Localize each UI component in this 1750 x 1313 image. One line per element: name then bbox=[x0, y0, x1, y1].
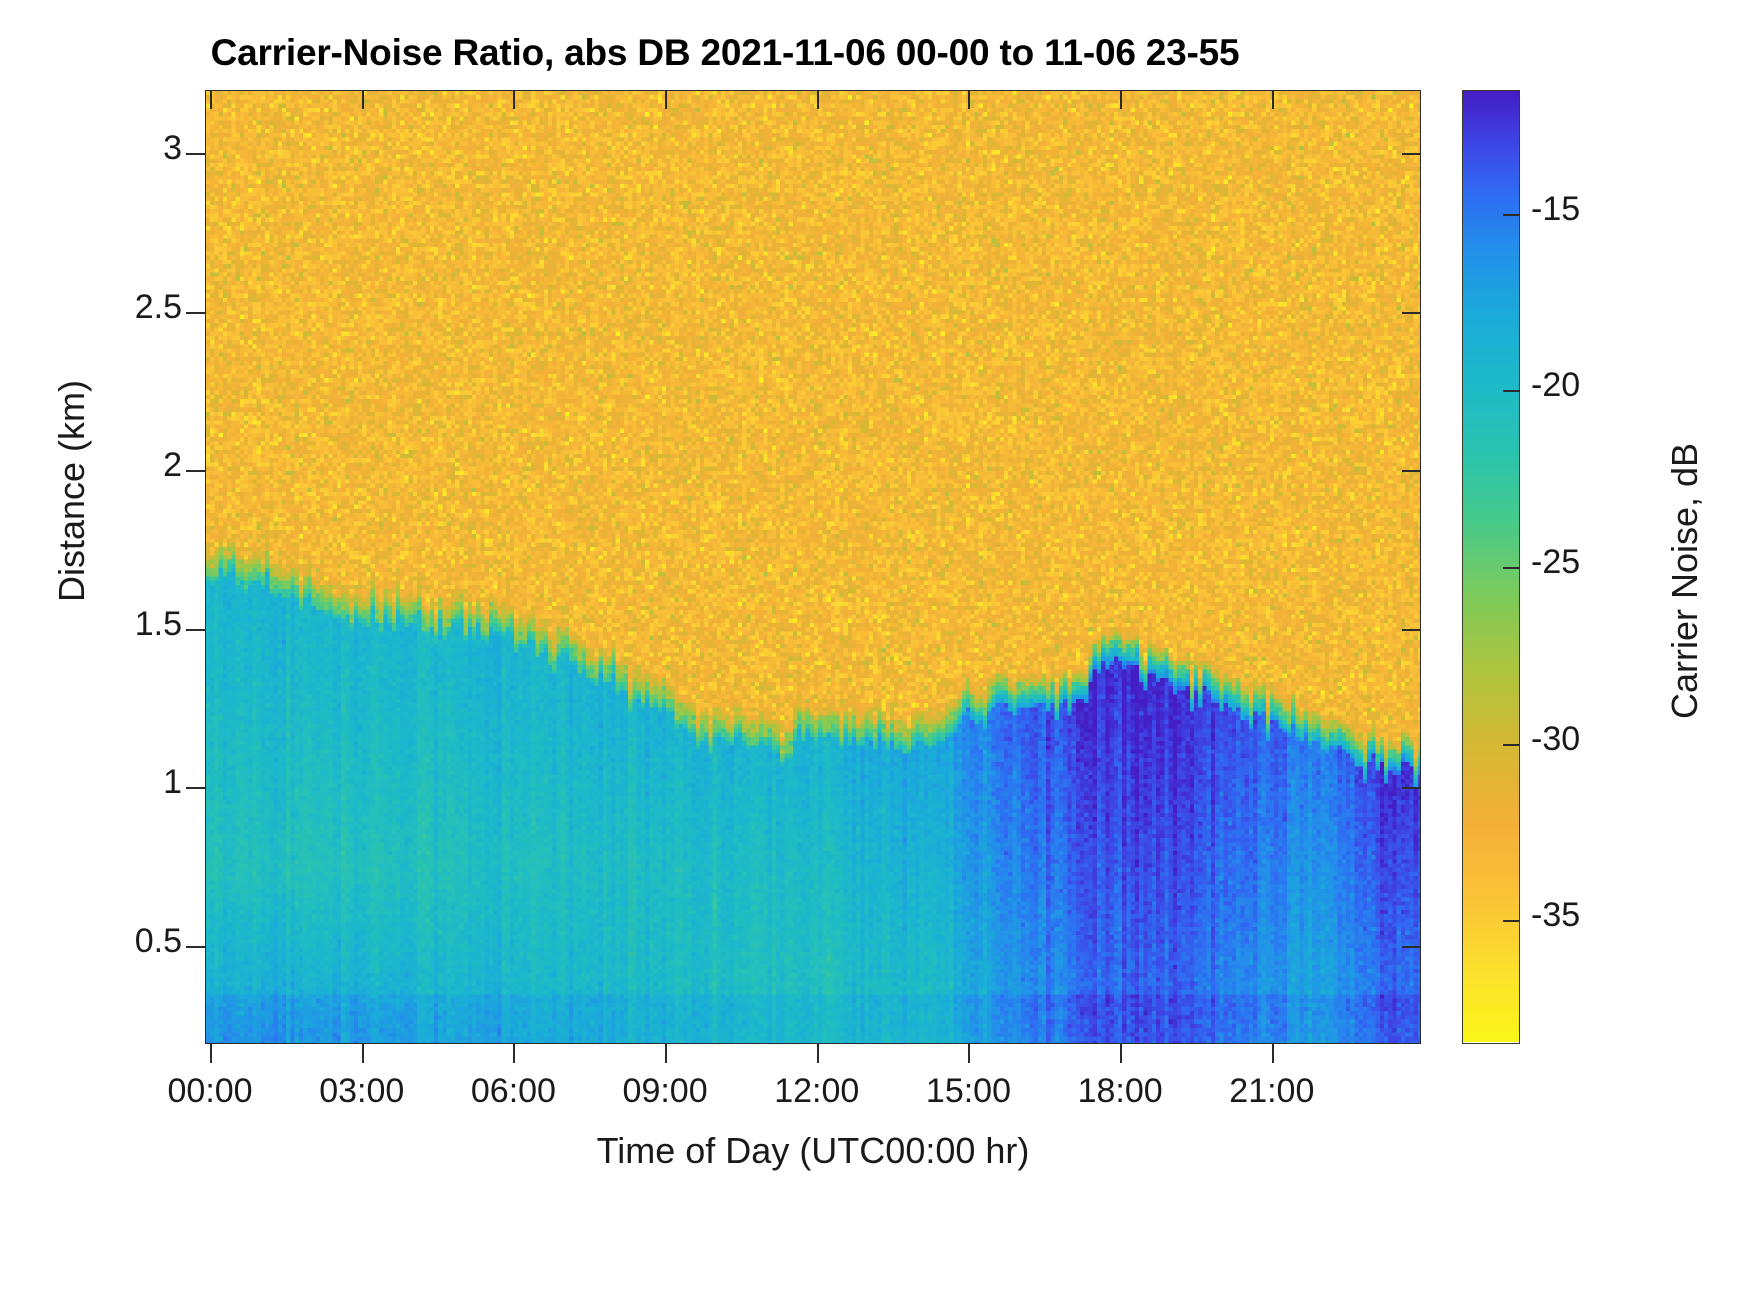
x-tick-mark-top bbox=[665, 90, 667, 109]
y-tick-mark-right bbox=[1402, 470, 1421, 472]
colorbar-tick-label: -30 bbox=[1531, 722, 1580, 756]
y-tick-mark bbox=[186, 629, 205, 631]
colorbar-tick-mark bbox=[1503, 744, 1520, 746]
x-tick-mark-top bbox=[210, 90, 212, 109]
x-tick-mark bbox=[1120, 1044, 1122, 1063]
x-tick-mark bbox=[968, 1044, 970, 1063]
colorbar-tick-mark bbox=[1503, 214, 1520, 216]
y-tick-label: 2.5 bbox=[135, 290, 182, 324]
colorbar-tick-label: -35 bbox=[1531, 898, 1580, 932]
y-tick-mark-right bbox=[1402, 153, 1421, 155]
x-tick-mark bbox=[1272, 1044, 1274, 1063]
y-tick-mark bbox=[186, 787, 205, 789]
colorbar-tick-mark bbox=[1503, 567, 1520, 569]
colorbar-tick-label: -20 bbox=[1531, 368, 1580, 402]
x-tick-mark-top bbox=[817, 90, 819, 109]
x-tick-mark-top bbox=[362, 90, 364, 109]
y-tick-mark bbox=[186, 312, 205, 314]
x-axis-label: Time of Day (UTC00:00 hr) bbox=[205, 1130, 1421, 1172]
y-axis-label: Distance (km) bbox=[51, 231, 93, 751]
chart-title: Carrier-Noise Ratio, abs DB 2021-11-06 0… bbox=[0, 32, 1450, 74]
colorbar-tick-label: -25 bbox=[1531, 545, 1580, 579]
x-tick-mark bbox=[210, 1044, 212, 1063]
y-tick-label: 3 bbox=[163, 131, 182, 165]
x-tick-mark bbox=[362, 1044, 364, 1063]
y-tick-mark bbox=[186, 153, 205, 155]
y-tick-mark-right bbox=[1402, 946, 1421, 948]
colorbar-tick-mark bbox=[1503, 920, 1520, 922]
y-tick-label: 1 bbox=[163, 765, 182, 799]
heatmap-plot-area bbox=[205, 90, 1421, 1044]
x-tick-mark-top bbox=[513, 90, 515, 109]
x-tick-mark bbox=[817, 1044, 819, 1063]
y-tick-mark-right bbox=[1402, 787, 1421, 789]
colorbar-label: Carrier Noise, dB bbox=[1664, 371, 1706, 791]
colorbar-tick-label: -15 bbox=[1531, 192, 1580, 226]
x-tick-label: 21:00 bbox=[1172, 1072, 1372, 1111]
heatmap-image bbox=[206, 91, 1421, 1044]
colorbar-tick-mark bbox=[1503, 390, 1520, 392]
y-tick-label: 0.5 bbox=[135, 924, 182, 958]
y-tick-mark bbox=[186, 946, 205, 948]
figure-canvas: Carrier-Noise Ratio, abs DB 2021-11-06 0… bbox=[0, 0, 1750, 1313]
y-tick-label: 2 bbox=[163, 448, 182, 482]
x-tick-mark-top bbox=[1272, 90, 1274, 109]
x-tick-mark bbox=[665, 1044, 667, 1063]
x-tick-mark bbox=[513, 1044, 515, 1063]
x-tick-mark-top bbox=[968, 90, 970, 109]
x-tick-mark-top bbox=[1120, 90, 1122, 109]
y-tick-label: 1.5 bbox=[135, 607, 182, 641]
y-tick-mark-right bbox=[1402, 312, 1421, 314]
y-tick-mark-right bbox=[1402, 629, 1421, 631]
y-tick-mark bbox=[186, 470, 205, 472]
